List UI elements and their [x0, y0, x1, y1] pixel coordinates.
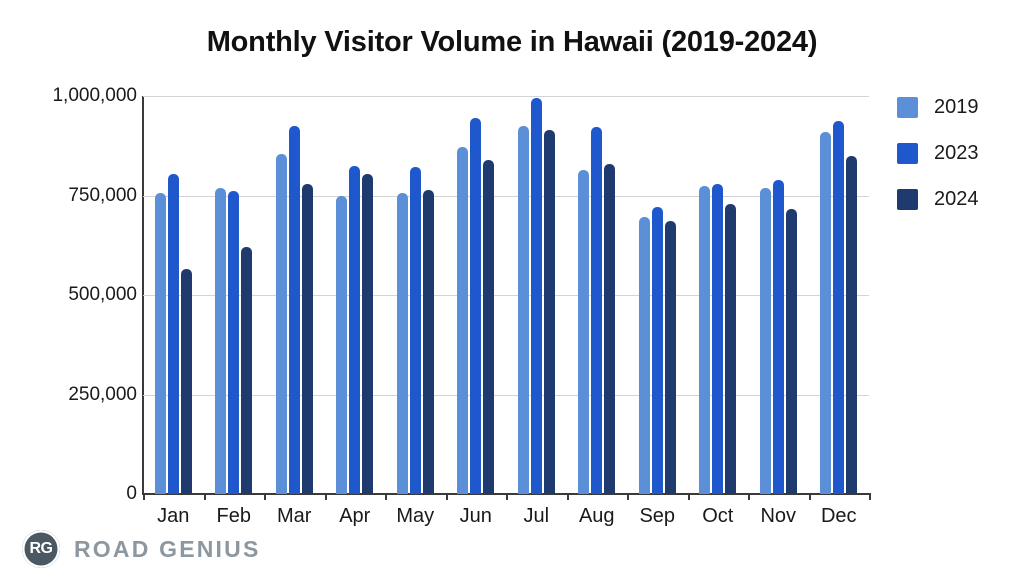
x-axis-tick-label-jul: Jul	[501, 505, 571, 528]
bar-feb-2023	[228, 191, 239, 494]
bar-jun-2019	[457, 147, 468, 494]
x-axis-tick-label-jun: Jun	[441, 505, 511, 528]
bar-group	[760, 96, 797, 494]
bar-nov-2023	[773, 180, 784, 494]
x-axis-tick-label-aug: Aug	[562, 505, 632, 528]
bar-dec-2023	[833, 121, 844, 494]
bar-nov-2024	[786, 209, 797, 494]
x-axis-tick	[506, 493, 508, 500]
bar-feb-2024	[241, 247, 252, 494]
x-axis-tick	[627, 493, 629, 500]
y-axis-labels: 1,000,000750,000500,000250,0000	[19, 96, 137, 494]
legend-item-2019[interactable]: 2019	[897, 84, 1017, 130]
bar-group	[518, 96, 555, 494]
bar-aug-2023	[591, 127, 602, 494]
bar-apr-2024	[362, 174, 373, 494]
bar-oct-2024	[725, 204, 736, 494]
bar-group	[397, 96, 434, 494]
bar-group	[820, 96, 857, 494]
bar-mar-2019	[276, 154, 287, 494]
x-axis-tick-label-apr: Apr	[320, 505, 390, 528]
road-genius-badge-icon: RG	[22, 530, 60, 568]
bar-jan-2023	[168, 174, 179, 494]
legend-item-2024[interactable]: 2024	[897, 176, 1017, 222]
y-axis-tick-label: 1,000,000	[27, 85, 137, 107]
bar-dec-2019	[820, 132, 831, 494]
bar-aug-2019	[578, 170, 589, 494]
bar-sep-2024	[665, 221, 676, 494]
bar-may-2024	[423, 190, 434, 494]
x-axis-tick	[567, 493, 569, 500]
chart-title: Monthly Visitor Volume in Hawaii (2019-2…	[0, 26, 1024, 59]
legend-swatch-2023	[897, 143, 918, 164]
x-axis-tick-label-mar: Mar	[259, 505, 329, 528]
chart-container: Monthly Visitor Volume in Hawaii (2019-2…	[0, 0, 1024, 582]
legend-label-2023: 2023	[934, 142, 979, 165]
x-axis-tick	[385, 493, 387, 500]
bar-jul-2023	[531, 98, 542, 494]
x-axis-tick	[688, 493, 690, 500]
legend-label-2024: 2024	[934, 188, 979, 211]
x-axis-tick-label-oct: Oct	[683, 505, 753, 528]
bar-may-2019	[397, 193, 408, 494]
bar-group	[336, 96, 373, 494]
bar-jan-2024	[181, 269, 192, 494]
x-axis-tick	[869, 493, 871, 500]
legend-label-2019: 2019	[934, 96, 979, 119]
bar-group	[578, 96, 615, 494]
bar-sep-2019	[639, 217, 650, 494]
bar-jun-2024	[483, 160, 494, 494]
brand-logo: RG ROAD GENIUS	[22, 530, 261, 568]
x-axis-tick	[325, 493, 327, 500]
x-axis-tick	[143, 493, 145, 500]
bar-dec-2024	[846, 156, 857, 494]
bar-group	[639, 96, 676, 494]
y-axis-tick-label: 750,000	[27, 185, 137, 207]
x-axis-tick-label-sep: Sep	[622, 505, 692, 528]
bar-group	[215, 96, 252, 494]
x-axis-tick	[264, 493, 266, 500]
y-axis-tick-label: 500,000	[27, 284, 137, 306]
x-axis-tick-label-may: May	[380, 505, 450, 528]
bar-feb-2019	[215, 188, 226, 494]
bar-jul-2019	[518, 126, 529, 494]
x-axis-tick	[748, 493, 750, 500]
x-axis-tick-label-jan: Jan	[138, 505, 208, 528]
bar-aug-2024	[604, 164, 615, 494]
bar-jan-2019	[155, 193, 166, 494]
brand-badge-text: RG	[30, 540, 53, 558]
bar-oct-2023	[712, 184, 723, 494]
bar-jun-2023	[470, 118, 481, 494]
bar-apr-2023	[349, 166, 360, 494]
brand-name: ROAD GENIUS	[74, 536, 261, 563]
bar-may-2023	[410, 167, 421, 494]
bar-group	[276, 96, 313, 494]
legend-swatch-2024	[897, 189, 918, 210]
x-axis-tick-label-feb: Feb	[199, 505, 269, 528]
x-axis-tick	[446, 493, 448, 500]
legend-item-2023[interactable]: 2023	[897, 130, 1017, 176]
legend-swatch-2019	[897, 97, 918, 118]
bar-sep-2023	[652, 207, 663, 494]
bar-nov-2019	[760, 188, 771, 494]
y-axis-tick-label: 0	[27, 483, 137, 505]
plot-area	[143, 96, 869, 494]
plot-canvas	[143, 96, 869, 494]
bar-group	[457, 96, 494, 494]
y-axis-tick-label: 250,000	[27, 384, 137, 406]
bar-mar-2024	[302, 184, 313, 494]
x-axis-tick-label-nov: Nov	[743, 505, 813, 528]
bar-apr-2019	[336, 196, 347, 495]
bar-mar-2023	[289, 126, 300, 494]
bar-group	[155, 96, 192, 494]
x-axis-tick	[204, 493, 206, 500]
x-axis-tick	[809, 493, 811, 500]
x-axis-tick-label-dec: Dec	[804, 505, 874, 528]
bar-oct-2019	[699, 186, 710, 494]
chart-legend: 201920232024	[897, 84, 1017, 222]
bar-jul-2024	[544, 130, 555, 494]
bar-group	[699, 96, 736, 494]
